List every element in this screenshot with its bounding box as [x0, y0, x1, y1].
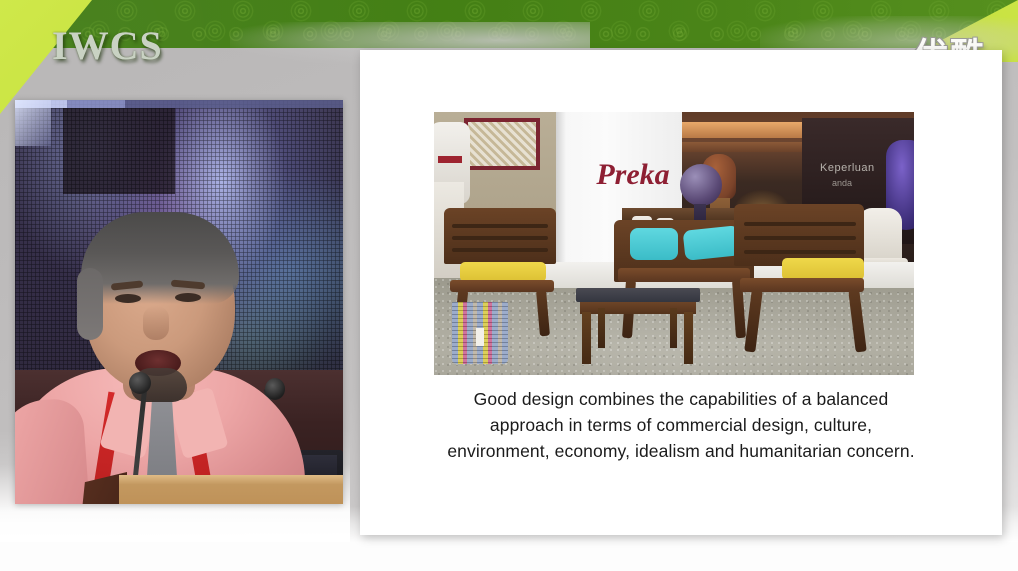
photo-sign-text-line2: anda — [832, 178, 852, 188]
slide-caption: Good design combines the capabilities of… — [382, 386, 980, 464]
presenter-hair — [81, 212, 239, 304]
presenter-eye-right — [175, 293, 201, 302]
slide-caption-line-1: Good design combines the capabilities of… — [382, 386, 980, 412]
slide-caption-line-2: approach in terms of commercial design, … — [382, 412, 980, 438]
microphone-head-icon — [129, 372, 151, 394]
slide-caption-line-3: environment, economy, idealism and human… — [382, 438, 980, 464]
bottom-white-strip — [0, 542, 1018, 571]
photo-coffee-table-top — [576, 288, 700, 302]
photo-shelf-top — [680, 122, 810, 138]
second-microphone-head-icon — [265, 378, 285, 400]
photo-wall-frame — [464, 118, 540, 170]
photo-banner-shadow — [556, 112, 566, 282]
photo-red-accent — [438, 156, 462, 163]
photo-shelf-top-second — [680, 142, 810, 152]
photo-table-leg-right — [684, 312, 693, 364]
photo-table-leg-back-right — [670, 308, 677, 348]
podium-top-edge — [119, 475, 343, 484]
presenter-eye-left — [115, 294, 141, 303]
photo-sign-text-line1: Keperluan — [820, 162, 875, 174]
photo-preka-wordmark: Preka — [580, 158, 686, 192]
presenter-hair-side — [77, 268, 103, 340]
led-top-strip — [15, 100, 343, 108]
video-player-stage: IWCS 优酷 — [0, 0, 1018, 571]
led-bright-corner — [15, 100, 51, 146]
photo-table-leg-left — [582, 312, 591, 364]
presenter-nose — [143, 306, 169, 340]
speaker-video-panel[interactable] — [15, 100, 343, 504]
photo-table-leg-back-left — [598, 308, 605, 348]
presentation-slide[interactable]: Keperluan anda Preka — [360, 50, 1002, 535]
slide-photo: Keperluan anda Preka — [434, 112, 914, 375]
photo-basket-tag — [476, 328, 484, 346]
iwcs-logo: IWCS — [52, 22, 163, 69]
photo-decorative-sphere — [680, 164, 722, 206]
